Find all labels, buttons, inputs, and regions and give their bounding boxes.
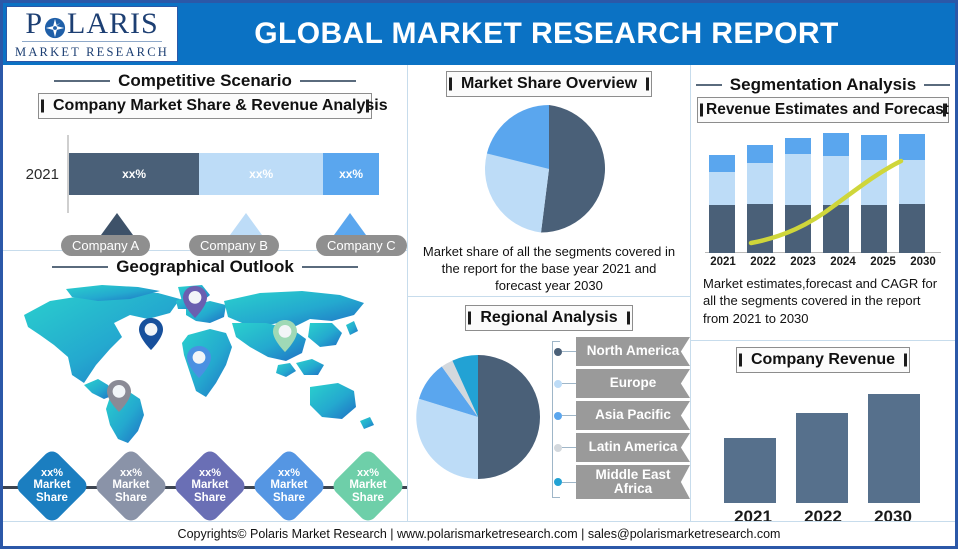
legend-dot-latin-america <box>554 444 562 452</box>
regional-item-europe[interactable]: Europe <box>548 369 690 398</box>
seg-xlabel-2024: 2024 <box>826 256 860 268</box>
diamond-2-pct: xx% <box>104 467 158 479</box>
pin-africa-middle-east[interactable] <box>186 345 212 379</box>
panel-competitive-scenario: Competitive Scenario Company Market Shar… <box>3 65 407 251</box>
logo-divider <box>22 41 162 42</box>
diamond-2-label: Market Share <box>104 479 158 505</box>
legend-dot-europe <box>554 380 562 388</box>
pie-slice-segment-1 <box>541 105 605 233</box>
diamond-region-5[interactable]: xx% Market Share <box>330 448 406 524</box>
diamond-3-pct: xx% <box>183 467 237 479</box>
revenue-box-title-wrap: Company Revenue <box>691 347 955 373</box>
segmentation-x-axis-labels: 2021 2022 2023 2024 2025 2030 <box>691 256 955 268</box>
diamond-5-content: xx% Market Share <box>341 467 395 505</box>
pin-asia[interactable] <box>272 319 298 353</box>
segmentation-box-title-text: Revenue Estimates and Forecast <box>706 101 949 118</box>
legend-stub <box>562 447 576 448</box>
revenue-bar-2022 <box>796 413 848 503</box>
panel-geographical-outlook: Geographical Outlook <box>3 251 407 527</box>
polaris-logo: P LARIS MARKET RESEARCH <box>6 6 178 62</box>
panels-grid: Competitive Scenario Company Market Shar… <box>3 65 955 527</box>
regional-item-asia-pacific[interactable]: Asia Pacific <box>548 401 690 430</box>
logo-word-a: P <box>25 9 43 39</box>
diamond-3-label: Market Share <box>183 479 237 505</box>
title-rule-right <box>300 80 356 82</box>
logo-subtitle: MARKET RESEARCH <box>15 45 169 60</box>
diamond-3-content: xx% Market Share <box>183 467 237 505</box>
geographical-title-text: Geographical Outlook <box>116 257 294 277</box>
competitive-box-title-wrap: Company Market Share & Revenue Analysis <box>3 93 407 119</box>
logo-word-b: LARIS <box>67 9 159 39</box>
diamond-1-content: xx% Market Share <box>25 467 79 505</box>
company-revenue-bar-chart <box>720 385 926 503</box>
diamond-region-3[interactable]: xx% Market Share <box>172 448 248 524</box>
diamond-5-label: Market Share <box>341 479 395 505</box>
regional-box-title-wrap: Regional Analysis <box>408 305 690 331</box>
diamond-4-content: xx% Market Share <box>262 467 316 505</box>
panel-segmentation-analysis: Segmentation Analysis Revenue Estimates … <box>691 65 955 341</box>
seg-xlabel-2022: 2022 <box>746 256 780 268</box>
regional-item-latin-america[interactable]: Latin America <box>548 433 690 462</box>
competitive-box-title-text: Company Market Share & Revenue Analysis <box>53 97 388 114</box>
left-column: Competitive Scenario Company Market Shar… <box>3 65 408 527</box>
overview-box-title-text: Market Share Overview <box>461 75 637 92</box>
regional-item-middle-east-africa[interactable]: Middle East Africa <box>548 465 690 499</box>
page-title: GLOBAL MARKET RESEARCH REPORT <box>178 17 955 51</box>
title-rule-left <box>54 80 110 82</box>
diamond-4-pct: xx% <box>262 467 316 479</box>
competitive-box-title: Company Market Share & Revenue Analysis <box>38 93 372 119</box>
seg-xlabel-2030: 2030 <box>906 256 940 268</box>
competitive-stacked-bar-row: 2021 xx% xx% xx% <box>17 135 407 213</box>
ribbon-asia-pacific: Asia Pacific <box>576 401 690 430</box>
overview-note: Market share of all the segments covered… <box>418 243 680 294</box>
world-map <box>10 279 400 447</box>
legend-dot-asia-pacific <box>554 412 562 420</box>
regional-pie-chart <box>414 353 542 481</box>
seg-xlabel-2021: 2021 <box>706 256 740 268</box>
legend-dot-middle-east-africa <box>554 478 562 486</box>
panel-company-revenue: Company Revenue 2021 2022 2030 <box>691 341 955 527</box>
seg-title-rule-right <box>924 84 950 86</box>
diamond-5-pct: xx% <box>341 467 395 479</box>
ribbon-north-america: North America <box>576 337 690 366</box>
legend-stub <box>562 415 576 416</box>
legend-stub <box>562 482 576 483</box>
segmentation-box-title: Revenue Estimates and Forecast <box>697 97 949 123</box>
regional-box-title-text: Regional Analysis <box>480 309 617 326</box>
middle-column: Market Share Overview Market share of al… <box>408 65 691 527</box>
legend-dot-north-america <box>554 348 562 356</box>
bar-segment-c-label: xx% <box>339 167 363 181</box>
overview-box-title: Market Share Overview <box>446 71 652 97</box>
bar-segment-company-c: xx% <box>323 153 379 195</box>
geo-title-rule-right <box>302 266 358 268</box>
overview-box-title-wrap: Market Share Overview <box>408 71 690 97</box>
legend-stub <box>562 351 576 352</box>
regional-pie-wrap <box>414 353 542 486</box>
ribbon-middle-east-africa: Middle East Africa <box>576 465 690 499</box>
competitive-pointer-row <box>67 213 377 235</box>
revenue-bar-2021 <box>724 438 776 503</box>
page-footer: Copyrights© Polaris Market Research | ww… <box>3 521 955 546</box>
panel-regional-analysis: Regional Analysis <box>408 297 690 527</box>
infographic-root: P LARIS MARKET RESEARCH GLOBAL MARKET RE… <box>0 0 958 549</box>
segmentation-title-text: Segmentation Analysis <box>730 75 916 95</box>
panel-market-share-overview: Market Share Overview Market share of al… <box>408 65 690 297</box>
competitive-stacked-bar: xx% xx% xx% <box>69 153 379 195</box>
diamond-region-4[interactable]: xx% Market Share <box>251 448 327 524</box>
regional-legend-list: North America Europe Asia Pacific <box>542 337 690 502</box>
bar-segment-company-b: xx% <box>199 153 323 195</box>
diamond-2-content: xx% Market Share <box>104 467 158 505</box>
diamond-4-label: Market Share <box>262 479 316 505</box>
pointer-company-b <box>230 213 262 235</box>
regional-item-north-america[interactable]: North America <box>548 337 690 366</box>
revenue-box-title: Company Revenue <box>736 347 910 373</box>
segmentation-note: Market estimates,forecast and CAGR for a… <box>703 275 945 327</box>
pointer-company-c <box>334 213 366 235</box>
market-share-diamond-band: xx% Market Share xx% Market Share xx% <box>3 449 407 523</box>
logo-wordmark: P LARIS <box>25 9 158 39</box>
overview-pie-chart <box>483 103 615 235</box>
diamond-region-2[interactable]: xx% Market Share <box>93 448 169 524</box>
geographical-section-title: Geographical Outlook <box>3 257 407 277</box>
revenue-bar-2030 <box>868 394 920 503</box>
seg-xlabel-2025: 2025 <box>866 256 900 268</box>
bar-segment-a-label: xx% <box>122 167 146 181</box>
pin-europe[interactable] <box>182 285 208 319</box>
competitive-year-label: 2021 <box>17 166 59 183</box>
right-column: Segmentation Analysis Revenue Estimates … <box>691 65 955 527</box>
segmentation-stacked-bar-chart <box>705 133 941 253</box>
regional-box-title: Regional Analysis <box>465 305 632 331</box>
bar-segment-b-label: xx% <box>249 167 273 181</box>
ribbon-europe: Europe <box>576 369 690 398</box>
segmentation-cagr-line <box>705 133 941 253</box>
compass-star-icon <box>44 15 66 37</box>
seg-title-rule-left <box>696 84 722 86</box>
legend-stub <box>562 383 576 384</box>
segmentation-box-title-wrap: Revenue Estimates and Forecast <box>691 97 955 123</box>
geo-title-rule-left <box>52 266 108 268</box>
regional-body: North America Europe Asia Pacific <box>408 337 690 502</box>
pointer-company-a <box>101 213 133 235</box>
competitive-section-title: Competitive Scenario <box>3 71 407 91</box>
pin-south-america[interactable] <box>106 379 132 413</box>
pie-slice-north-america <box>478 355 540 479</box>
diamond-region-1[interactable]: xx% Market Share <box>14 448 90 524</box>
ribbon-latin-america: Latin America <box>576 433 690 462</box>
overview-pie-wrap <box>408 103 690 235</box>
footer-copyright-text: Copyrights© Polaris Market Research | ww… <box>178 527 781 541</box>
page-header: P LARIS MARKET RESEARCH GLOBAL MARKET RE… <box>3 3 955 65</box>
revenue-box-title-text: Company Revenue <box>751 351 895 368</box>
pin-north-america[interactable] <box>138 317 164 351</box>
competitive-title-text: Competitive Scenario <box>118 71 292 91</box>
bar-segment-company-a: xx% <box>69 153 199 195</box>
segmentation-section-title: Segmentation Analysis <box>691 75 955 95</box>
diamond-1-label: Market Share <box>25 479 79 505</box>
seg-xlabel-2023: 2023 <box>786 256 820 268</box>
diamond-1-pct: xx% <box>25 467 79 479</box>
